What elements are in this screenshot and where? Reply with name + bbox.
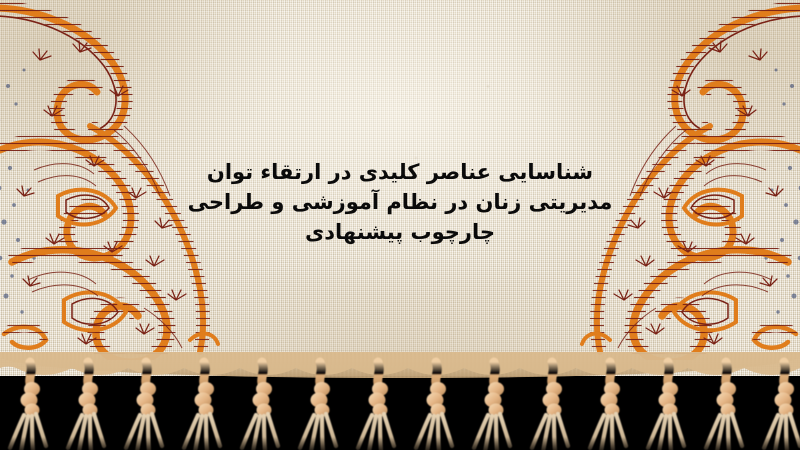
title-line-1: شناسایی عناصر کلیدی در ارتقاء توان — [178, 158, 622, 188]
slide-title: شناسایی عناصر کلیدی در ارتقاء توان مدیری… — [178, 158, 622, 247]
title-line-2: مدیریتی زنان در نظام آموزشی و طراحی — [178, 188, 622, 218]
title-slide: شناسایی عناصر کلیدی در ارتقاء توان مدیری… — [0, 0, 800, 450]
title-line-3: چارچوب پیشنهادی — [178, 218, 622, 248]
